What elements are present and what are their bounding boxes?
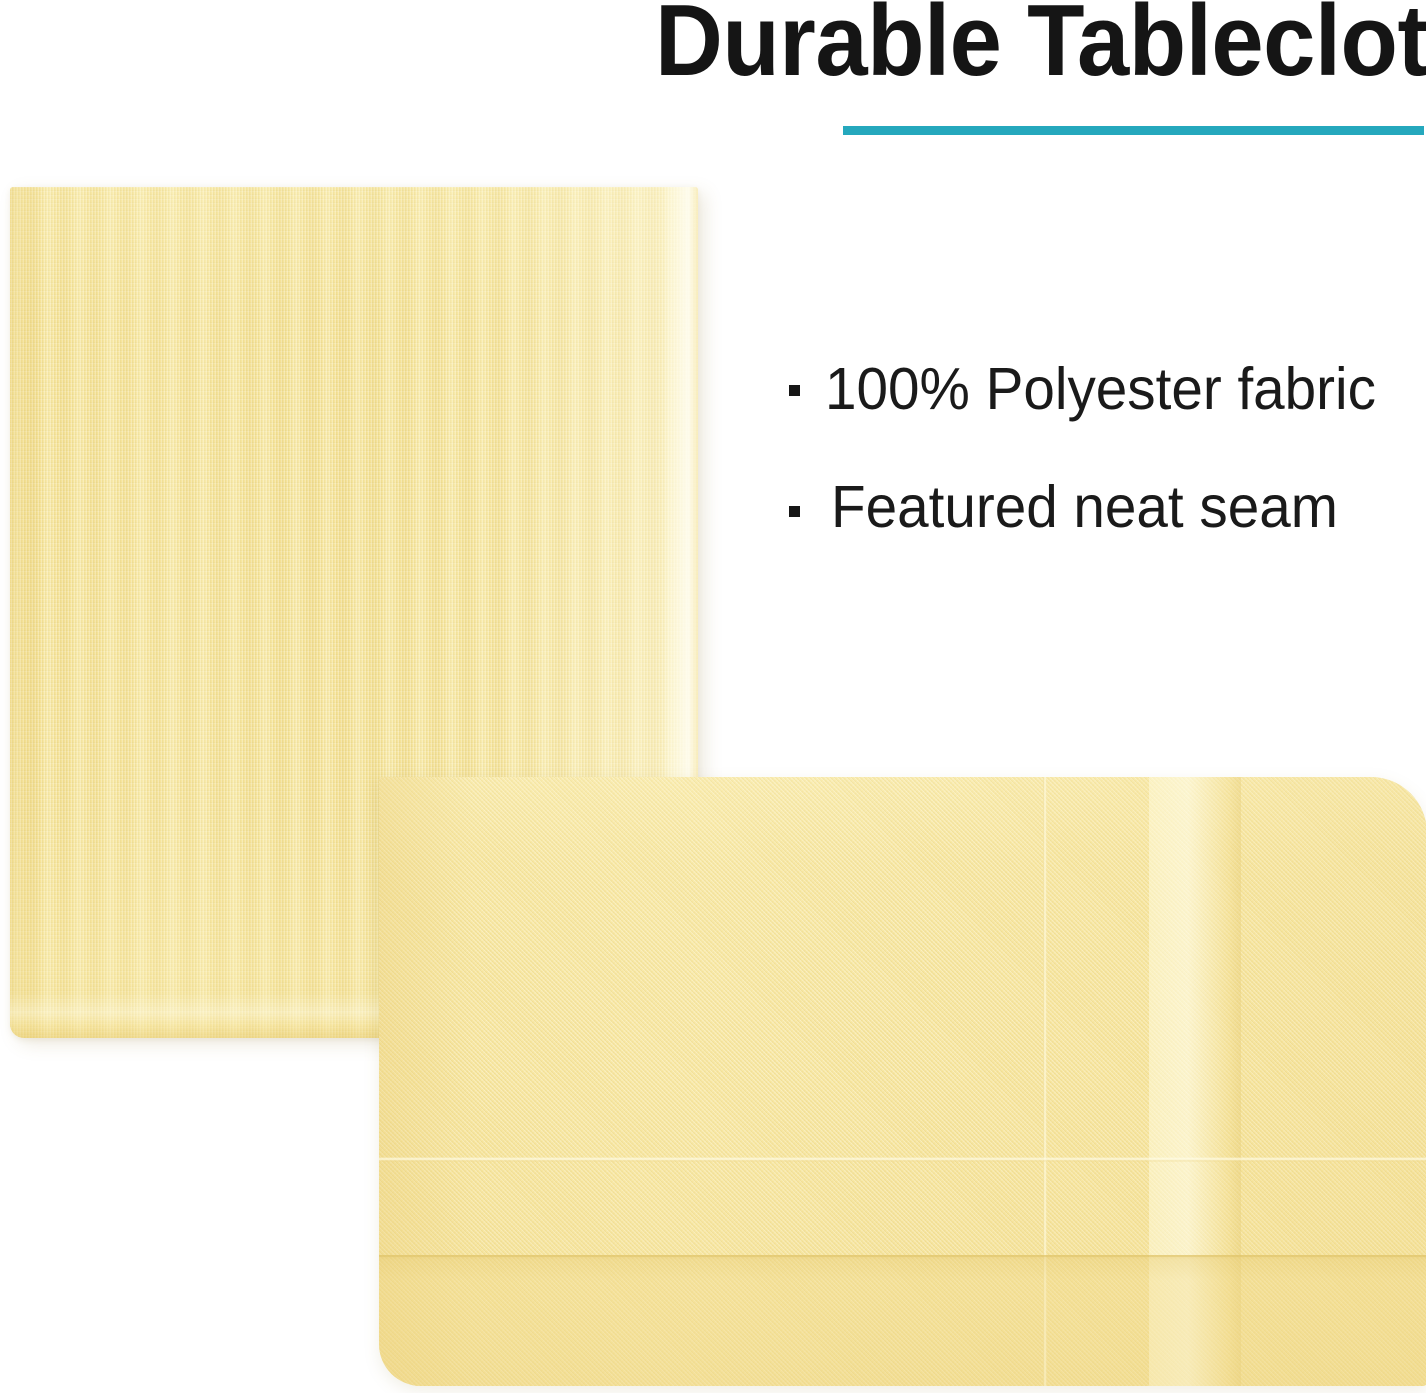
list-item: 100% Polyester fabric xyxy=(785,352,1425,470)
tablecloth-seam-detail-image xyxy=(379,777,1426,1386)
feature-label: 100% Polyester fabric xyxy=(825,346,1376,432)
product-feature-image: Durable Tablecloth 100% Polyester fabric… xyxy=(0,0,1426,1393)
feature-label: Featured neat seam xyxy=(831,464,1338,550)
hem-band xyxy=(379,1255,1426,1386)
list-item: Featured neat seam xyxy=(785,470,1425,588)
horizontal-seam-stitch xyxy=(379,1157,1426,1162)
teal-divider xyxy=(843,126,1424,135)
square-bullet-icon xyxy=(789,506,800,517)
feature-list: 100% Polyester fabric Featured neat seam xyxy=(785,352,1425,588)
page-title: Durable Tablecloth xyxy=(655,0,1373,96)
square-bullet-icon xyxy=(789,385,800,396)
